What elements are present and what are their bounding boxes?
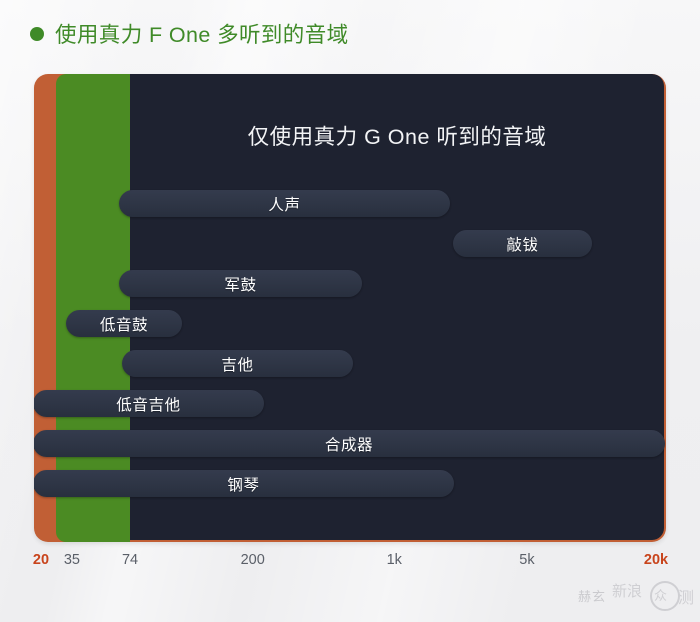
watermark-brand: 新浪 bbox=[612, 580, 642, 601]
bar-4: 吉他 bbox=[122, 350, 353, 377]
bar-label: 低音吉他 bbox=[116, 393, 180, 415]
x-tick-74: 74 bbox=[122, 552, 138, 568]
watermark-tail: 测 bbox=[678, 584, 694, 608]
watermark-author: 赫玄 bbox=[578, 586, 606, 605]
watermark: 赫玄 新浪 众 测 bbox=[578, 578, 696, 614]
bar-label: 低音鼓 bbox=[100, 313, 148, 335]
bar-label: 人声 bbox=[268, 193, 300, 215]
bar-2: 军鼓 bbox=[119, 270, 362, 297]
page-title: 使用真力 F One 多听到的音域 bbox=[55, 18, 349, 49]
bar-label: 钢琴 bbox=[227, 473, 259, 495]
bar-label: 军鼓 bbox=[224, 273, 256, 295]
page-header: 使用真力 F One 多听到的音域 bbox=[30, 12, 349, 54]
x-tick-35: 35 bbox=[64, 552, 80, 568]
x-axis: 2035742001k5k20k bbox=[34, 552, 666, 578]
x-tick-5k: 5k bbox=[519, 552, 534, 568]
bar-1: 敲钹 bbox=[453, 230, 592, 257]
bar-7: 钢琴 bbox=[34, 470, 454, 497]
x-tick-20: 20 bbox=[33, 552, 49, 568]
bar-3: 低音鼓 bbox=[66, 310, 182, 337]
x-tick-1k: 1k bbox=[387, 552, 402, 568]
x-tick-200: 200 bbox=[241, 552, 265, 568]
bar-label: 合成器 bbox=[325, 433, 373, 455]
bar-6: 合成器 bbox=[34, 430, 665, 457]
bar-series: 人声敲钹军鼓低音鼓吉他低音吉他合成器钢琴 bbox=[34, 74, 666, 542]
bar-label: 敲钹 bbox=[506, 233, 538, 255]
bar-label: 吉他 bbox=[221, 353, 253, 375]
chart-panel: 仅使用真力 G One 听到的音域 人声敲钹军鼓低音鼓吉他低音吉他合成器钢琴 bbox=[34, 74, 666, 542]
x-tick-20k: 20k bbox=[644, 552, 668, 568]
bar-0: 人声 bbox=[119, 190, 450, 217]
bar-5: 低音吉他 bbox=[34, 390, 264, 417]
watermark-ring-text: 众 bbox=[654, 585, 667, 604]
bullet-dot-icon bbox=[30, 27, 44, 41]
